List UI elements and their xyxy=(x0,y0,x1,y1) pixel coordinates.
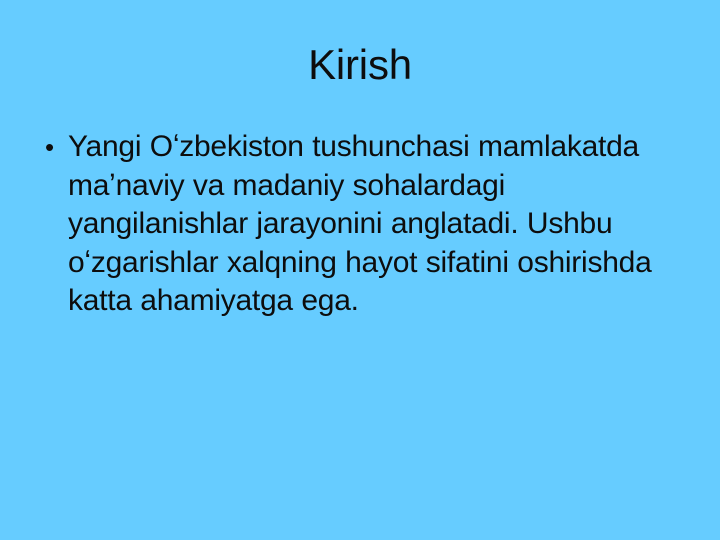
presentation-slide: Kirish • Yangi Oʻzbekiston tushunchasi m… xyxy=(0,0,720,540)
list-item: • Yangi Oʻzbekiston tushunchasi mamlakat… xyxy=(40,128,668,321)
bullet-point-icon: • xyxy=(45,128,63,167)
slide-title: Kirish xyxy=(0,40,720,90)
slide-body: • Yangi Oʻzbekiston tushunchasi mamlakat… xyxy=(40,128,680,321)
bullet-item-text: Yangi Oʻzbekiston tushunchasi mamlakatda… xyxy=(68,128,668,321)
bullet-list: • Yangi Oʻzbekiston tushunchasi mamlakat… xyxy=(40,128,680,321)
